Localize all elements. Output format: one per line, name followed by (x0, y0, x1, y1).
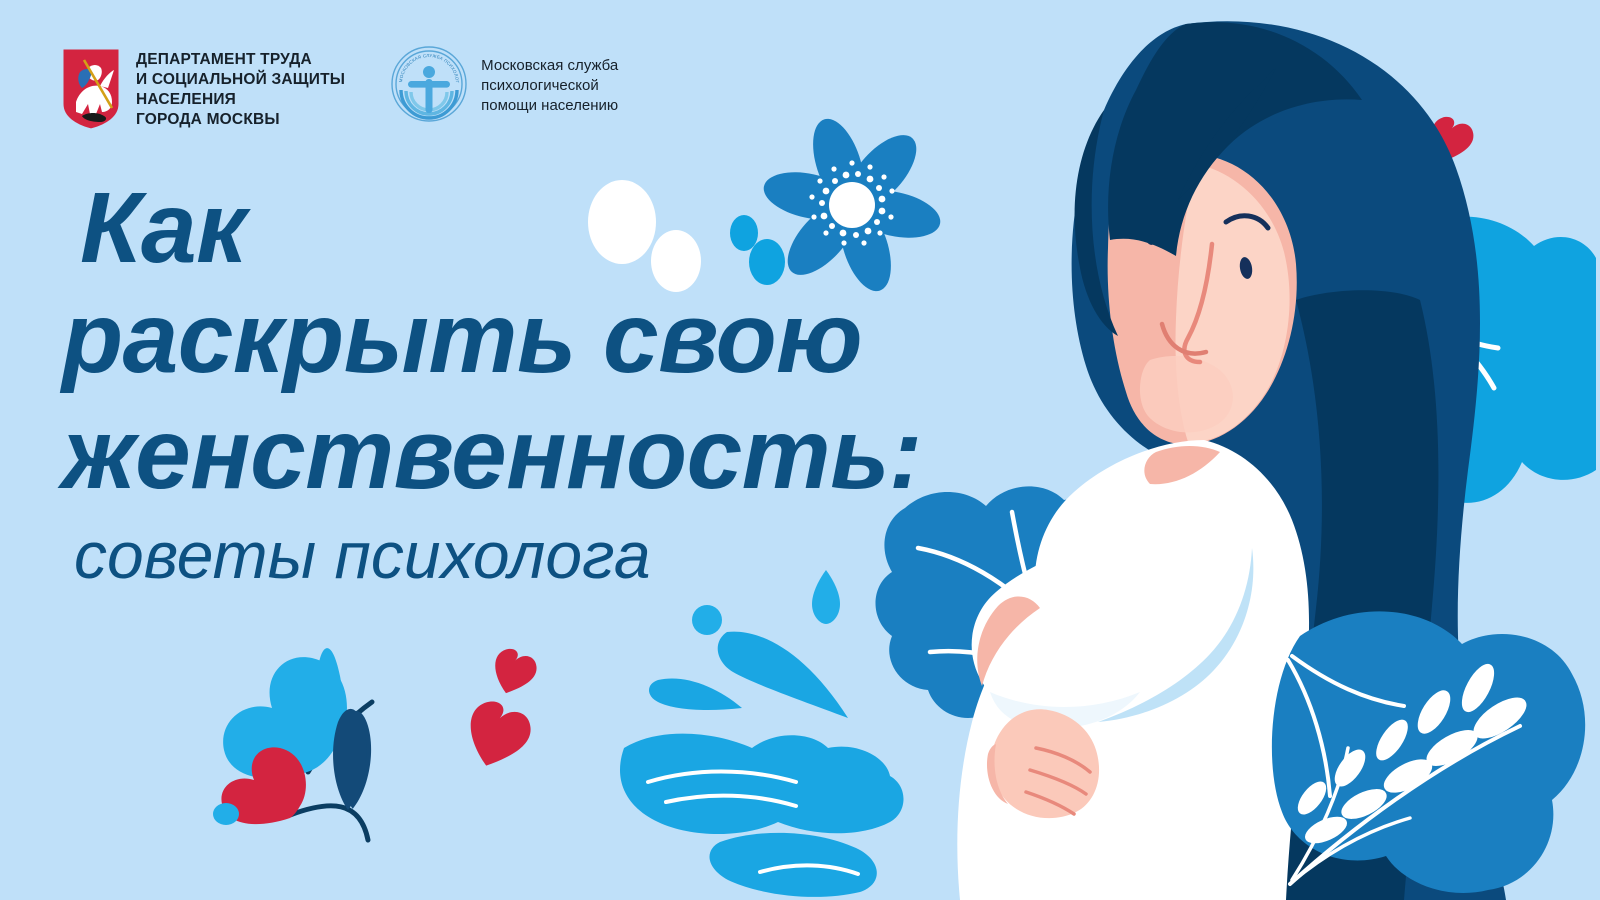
headline-line-1: Как (80, 176, 922, 280)
moscow-coat-of-arms-icon (60, 46, 122, 132)
logo-bar: ДЕПАРТАМЕНТ ТРУДА И СОЦИАЛЬНОЙ ЗАЩИТЫ НА… (60, 46, 618, 132)
headline-line-3: женственность: (62, 396, 922, 512)
moscow-psychological-service-emblem-icon: МОСКОВСКАЯ СЛУЖБА ПСИХОЛОГИЧЕСКОЙ ПОМОЩИ… (391, 46, 467, 122)
headline-subtitle: советы психолога (74, 512, 922, 598)
msph-logo-block: МОСКОВСКАЯ СЛУЖБА ПСИХОЛОГИЧЕСКОЙ ПОМОЩИ… (391, 46, 618, 122)
headline-line-2: раскрыть свою (62, 280, 922, 396)
dtszn-logo-block: ДЕПАРТАМЕНТ ТРУДА И СОЦИАЛЬНОЙ ЗАЩИТЫ НА… (60, 46, 345, 132)
poster-canvas: ДЕПАРТАМЕНТ ТРУДА И СОЦИАЛЬНОЙ ЗАЩИТЫ НА… (0, 0, 1600, 900)
dtszn-logo-text: ДЕПАРТАМЕНТ ТРУДА И СОЦИАЛЬНОЙ ЗАЩИТЫ НА… (136, 46, 345, 131)
msph-logo-text: Московская служба психологической помощи… (481, 46, 618, 116)
blue-shape-bottom-right (1272, 611, 1585, 893)
headline-block: Как раскрыть свою женственность: советы … (62, 176, 922, 598)
